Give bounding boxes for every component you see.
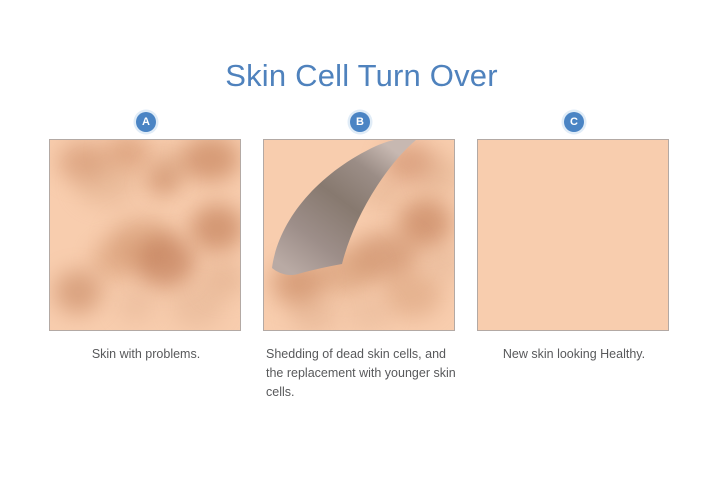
skin-blotch <box>182 140 240 182</box>
infographic-root: Skin Cell Turn Over A Skin with problems… <box>0 0 723 483</box>
skin-blotch <box>146 166 180 196</box>
skin-blotch <box>92 240 140 280</box>
step-badge-b: B <box>350 112 370 132</box>
skin-texture-c <box>478 140 668 330</box>
skin-blotch <box>116 288 156 322</box>
panel-caption-b: Shedding of dead skin cells, and the rep… <box>263 345 457 402</box>
step-badge-c: C <box>564 112 584 132</box>
skin-blotch <box>190 204 240 252</box>
peeling-skin-flap-icon <box>264 140 454 330</box>
skin-texture-a <box>50 140 240 330</box>
panel-caption-c: New skin looking Healthy. <box>477 345 671 364</box>
badge-wrap-c: C <box>477 108 671 136</box>
panel-column-c: C New skin looking Healthy. <box>477 108 671 364</box>
page-title: Skin Cell Turn Over <box>0 56 723 96</box>
skin-panel-b <box>263 139 455 331</box>
skin-panel-c <box>477 139 669 331</box>
badge-wrap-b: B <box>263 108 457 136</box>
panel-column-b: B Shedding of dead skin cells, and the r… <box>263 108 457 402</box>
skin-blotch <box>76 162 136 206</box>
skin-blotch <box>54 270 102 314</box>
skin-blotch <box>134 236 196 288</box>
skin-panel-a <box>49 139 241 331</box>
badge-wrap-a: A <box>49 108 243 136</box>
panel-column-a: A Skin with problems. <box>49 108 243 364</box>
panel-caption-a: Skin with problems. <box>49 345 243 364</box>
step-badge-a: A <box>136 112 156 132</box>
skin-blotch <box>202 260 240 298</box>
